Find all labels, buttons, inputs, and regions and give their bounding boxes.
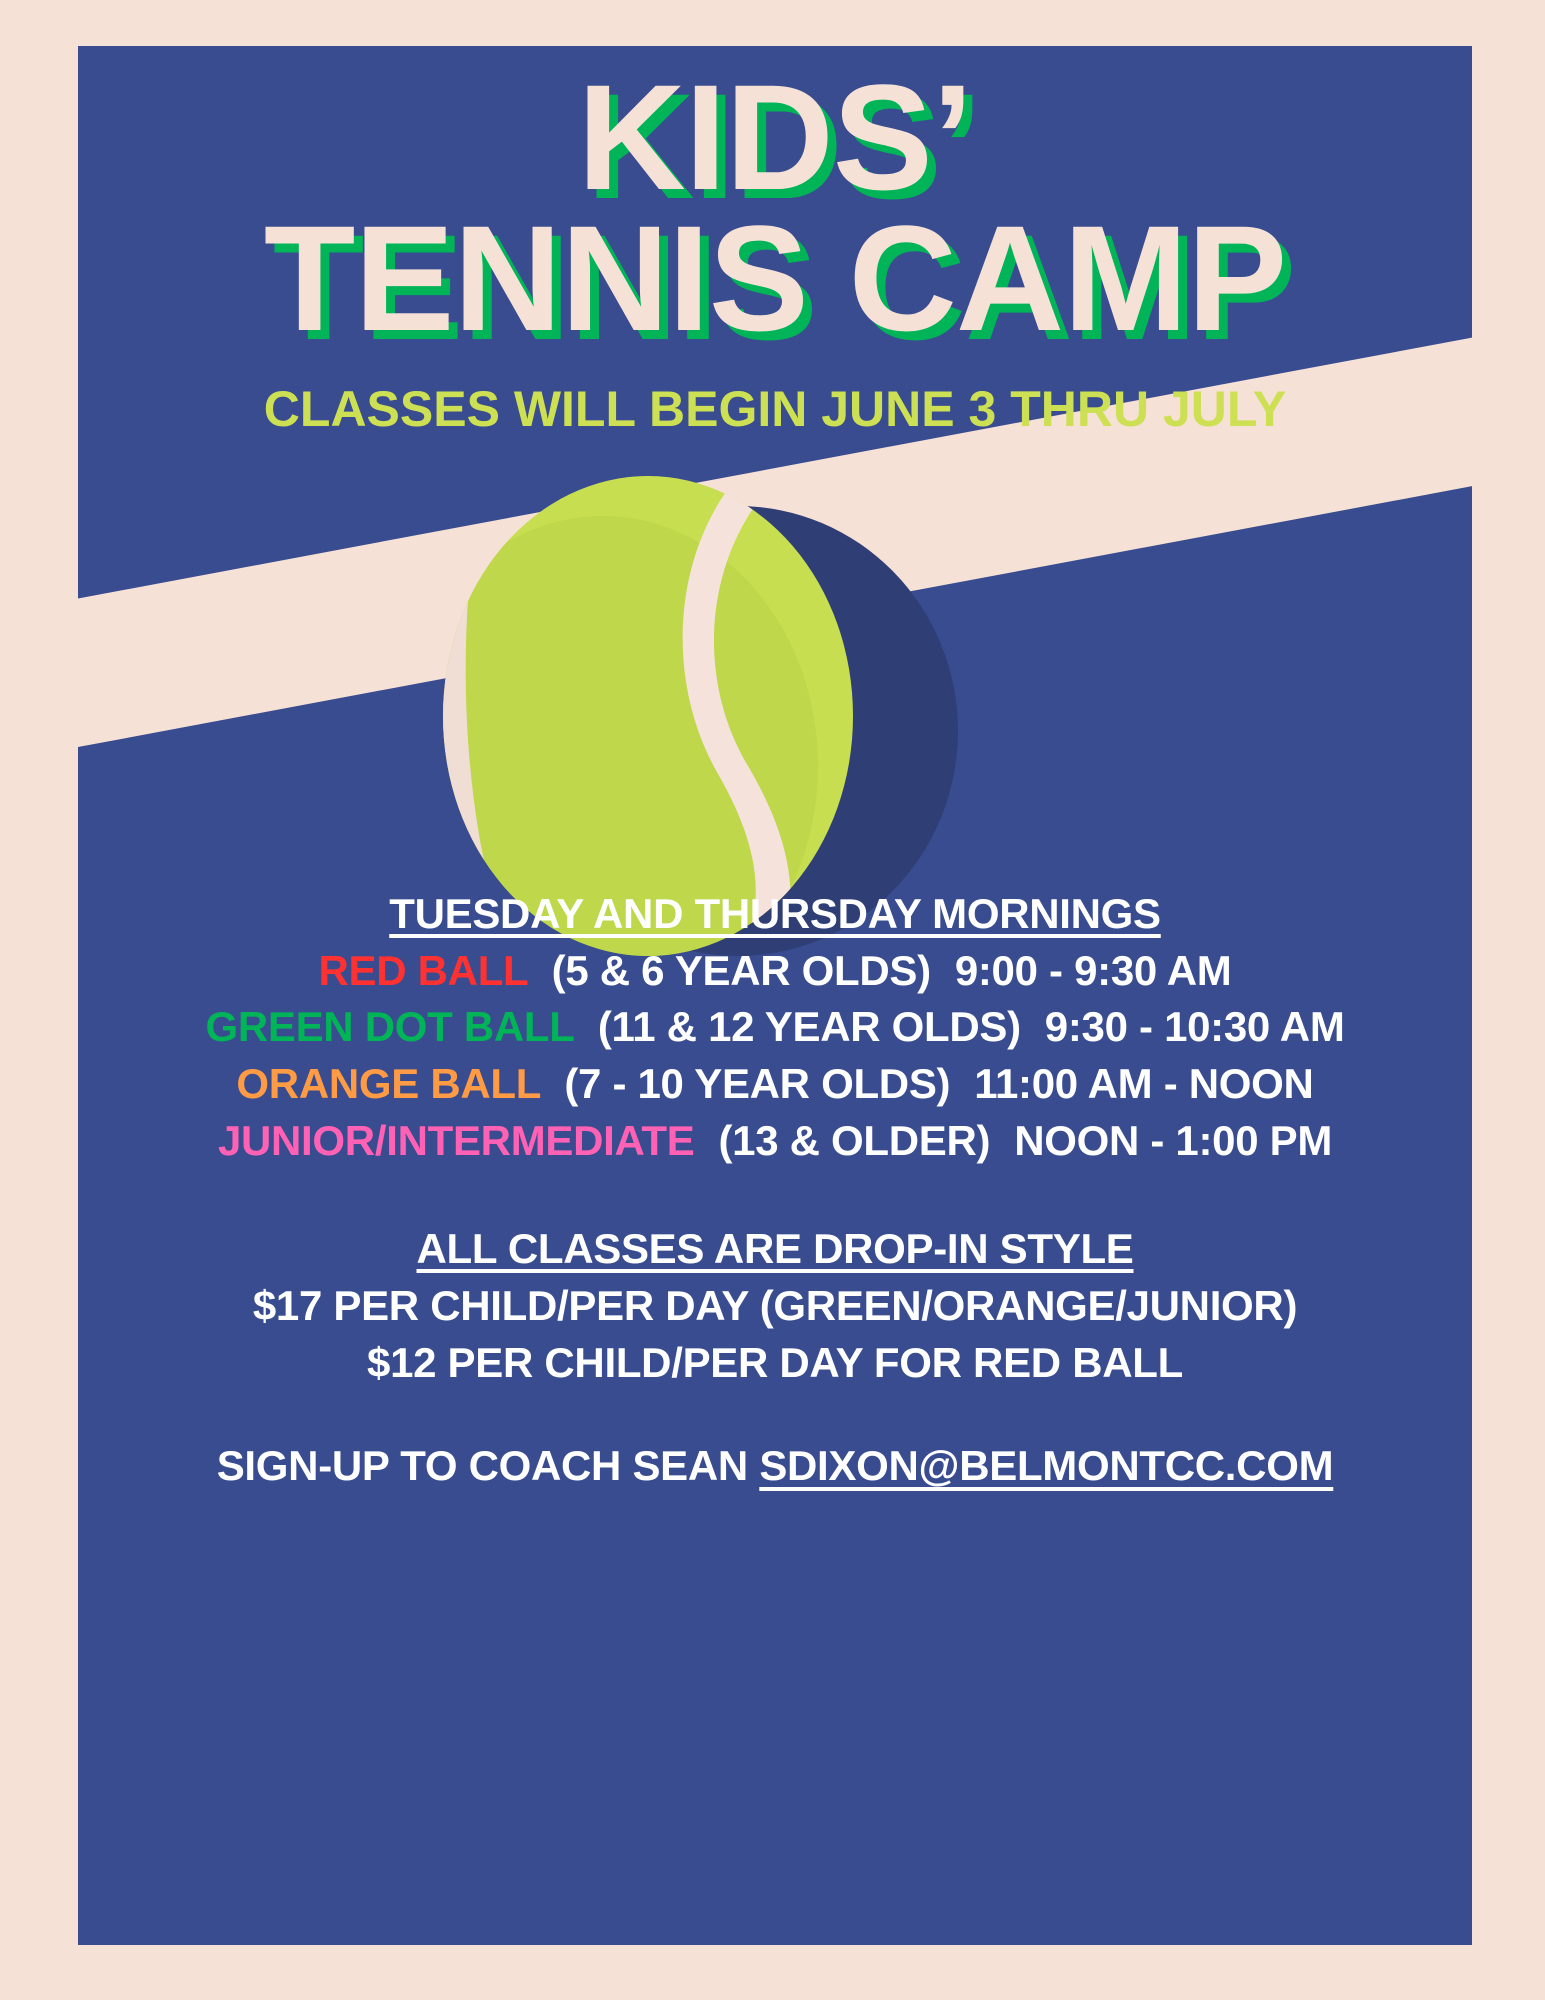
schedule-level: JUNIOR/INTERMEDIATE [218,1117,695,1164]
schedule-row: JUNIOR/INTERMEDIATE (13 & OLDER) NOON - … [78,1113,1472,1170]
schedule-ages: (11 & 12 YEAR OLDS) [598,1003,1021,1050]
contact-line: SIGN-UP TO COACH SEAN SDIXON@BELMONTCC.C… [78,1438,1472,1495]
schedule-ages: (13 & OLDER) [718,1117,990,1164]
pricing-line-1: $17 PER CHILD/PER DAY (GREEN/ORANGE/JUNI… [78,1278,1472,1335]
contact-prefix: SIGN-UP TO COACH SEAN [217,1442,760,1489]
schedule-level: GREEN DOT BALL [205,1003,573,1050]
schedule-level: ORANGE BALL [236,1060,540,1107]
schedule-time: NOON - 1:00 PM [1014,1117,1332,1164]
pricing-heading: ALL CLASSES ARE DROP-IN STYLE [78,1221,1472,1278]
schedule-time: 9:00 - 9:30 AM [955,947,1232,994]
poster-panel: KIDS’ TENNIS CAMP CLASSES WILL BEGIN JUN… [78,46,1472,1945]
details-block: TUESDAY AND THURSDAY MORNINGS RED BALL (… [78,886,1472,1494]
schedule-time: 9:30 - 10:30 AM [1045,1003,1345,1050]
subtitle: CLASSES WILL BEGIN JUNE 3 THRU JULY [78,380,1472,438]
section-spacer [78,1169,1472,1221]
schedule-heading: TUESDAY AND THURSDAY MORNINGS [78,886,1472,943]
schedule-row: ORANGE BALL (7 - 10 YEAR OLDS) 11:00 AM … [78,1056,1472,1113]
headline-block: KIDS’ TENNIS CAMP CLASSES WILL BEGIN JUN… [78,64,1472,438]
schedule-level: RED BALL [319,947,528,994]
schedule-ages: (5 & 6 YEAR OLDS) [552,947,931,994]
contact-email-link[interactable]: SDIXON@BELMONTCC.COM [759,1442,1333,1489]
section-spacer [78,1392,1472,1438]
schedule-row: GREEN DOT BALL (11 & 12 YEAR OLDS) 9:30 … [78,999,1472,1056]
poster: KIDS’ TENNIS CAMP CLASSES WILL BEGIN JUN… [0,0,1545,2000]
schedule-row: RED BALL (5 & 6 YEAR OLDS) 9:00 - 9:30 A… [78,943,1472,1000]
page-title-line2: TENNIS CAMP [78,205,1472,352]
pricing-line-2: $12 PER CHILD/PER DAY FOR RED BALL [78,1335,1472,1392]
schedule-ages: (7 - 10 YEAR OLDS) [564,1060,950,1107]
schedule-time: 11:00 AM - NOON [974,1060,1313,1107]
page-title-line1: KIDS’ [78,64,1472,211]
